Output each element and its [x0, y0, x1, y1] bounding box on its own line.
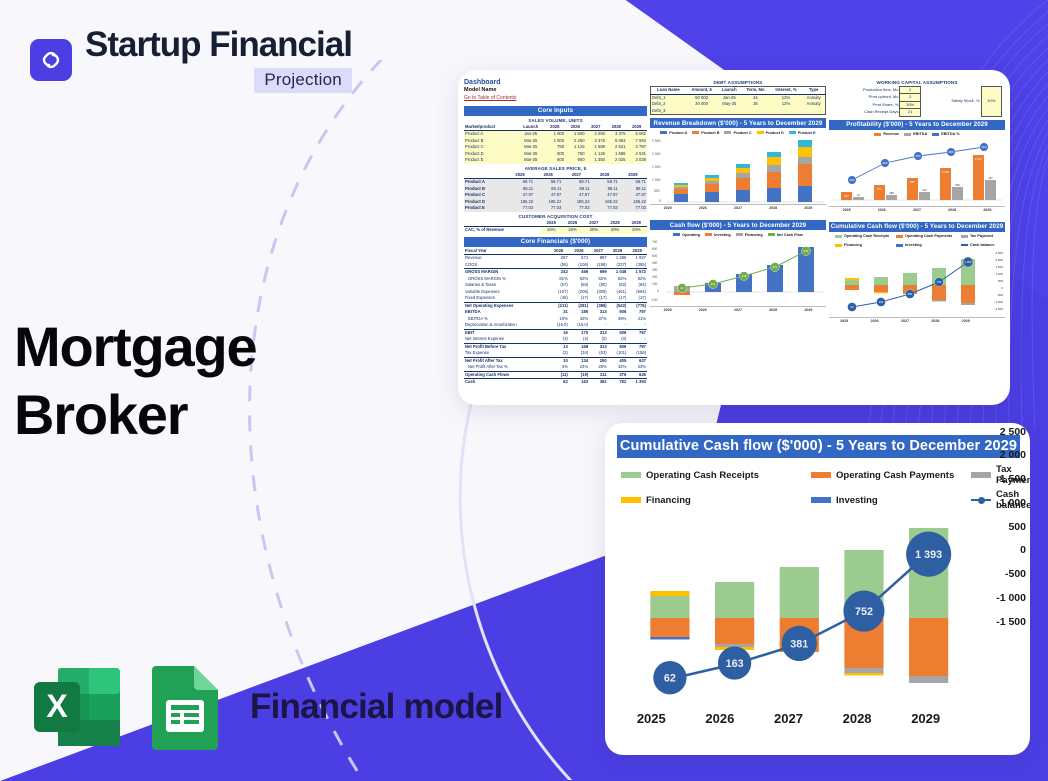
- safety-stock-table: Safety Stock, %10%: [924, 86, 1002, 117]
- cell-value: 20%: [626, 227, 647, 234]
- cell-label: Fixed Expenses: [464, 295, 548, 302]
- cell-value: 134: [569, 357, 589, 364]
- cell-value: 10: [548, 357, 568, 364]
- cell-value: 797: [627, 343, 647, 350]
- cell-value: 3 375: [606, 131, 626, 138]
- cumulative-cash-flow-chart-large: Cumulative Cash flow ($'000) - 5 Years t…: [605, 423, 1030, 755]
- col-year-0: 2025: [541, 220, 562, 227]
- cell-term: [741, 108, 770, 115]
- cell-value: (542): [608, 302, 628, 309]
- cell-label: Tax Expense: [464, 350, 548, 357]
- cell-value: -: [608, 322, 628, 329]
- footer-row: X Financial model: [30, 664, 503, 750]
- svg-text:571: 571: [877, 187, 882, 191]
- sales-volume-table: Market/product Launch 2025 2026 2027 202…: [464, 124, 647, 164]
- y-tick: -500: [1005, 568, 1026, 580]
- cell-value: (17): [627, 295, 647, 302]
- table-row: Production time, Mo2: [829, 87, 921, 94]
- chart-plot-area: 700600500 400300200 1000-100: [650, 238, 826, 306]
- y-tick: 2 000: [1000, 449, 1026, 461]
- svg-text:2 500: 2 500: [652, 139, 661, 143]
- x-label: 2028: [931, 319, 939, 323]
- cell-value: 1 350: [586, 157, 606, 164]
- table-header-row: Market/product Launch 2025 2026 2027 202…: [464, 124, 647, 131]
- cell-label: Cash Receipt Days: [829, 109, 900, 116]
- legend-label: Product B: [701, 131, 719, 135]
- cell-value: 62: [548, 379, 568, 386]
- table-row: Net Profit After Tax %3%24%28%32%33%: [464, 364, 647, 371]
- cell-value: 3%: [548, 364, 568, 371]
- y-tick: -1 500: [996, 616, 1026, 628]
- svg-text:313: 313: [922, 188, 927, 192]
- svg-text:1 393: 1 393: [915, 549, 942, 561]
- brand-text-block: Startup Financial Projection: [85, 27, 352, 93]
- chart-legend: Operating Cash Receipts Operating Cash P…: [621, 464, 1020, 511]
- chart-x-labels: 2025 2026 2027 2028 2029: [650, 306, 826, 312]
- svg-text:32%: 32%: [882, 161, 888, 165]
- x-label: 2028: [823, 711, 892, 726]
- dashboard-left-column: Dashboard Model Name Go to Table of Cont…: [464, 78, 647, 401]
- cell-value: 77.03: [506, 205, 534, 212]
- dashboard-title: Dashboard: [464, 78, 647, 87]
- revenue-breakdown-chart: Product A Product B Product C Product D …: [650, 129, 826, 217]
- legend-label: Financing: [745, 233, 763, 237]
- chart-plot-area: 2 5002 0001 500 1 0005000 -500-1 000-1 5…: [829, 249, 1005, 317]
- cell-value: 506: [608, 343, 628, 350]
- x-label: 2027: [913, 208, 921, 212]
- cell-label: Prmt upfront, Mo: [829, 94, 900, 101]
- profitability-title: Profitability ($'000) - 5 Years to Decem…: [829, 120, 1005, 130]
- y-tick: 1 500: [1000, 473, 1026, 485]
- svg-text:1 500: 1 500: [652, 165, 661, 169]
- cell-label: Operating Cash Flows: [464, 371, 548, 379]
- cell-launch: Jan-25: [717, 94, 741, 101]
- col-year-0: 2025: [545, 124, 565, 131]
- col-year-1: 2026: [565, 124, 585, 131]
- cell-value: 3 038: [626, 157, 647, 164]
- x-label: 2027: [901, 319, 909, 323]
- x-label: 2025: [840, 319, 848, 323]
- col-year-3: 2028: [606, 124, 626, 131]
- legend-label: Tax Payment: [970, 234, 993, 238]
- svg-text:0: 0: [657, 289, 659, 293]
- cell-value: 33%: [627, 364, 647, 371]
- y-tick: 0: [1020, 544, 1026, 556]
- cell-value: 571: [569, 255, 589, 262]
- cell-label: Prmt Share, %: [829, 101, 900, 108]
- debt-assumptions-caption: DEBT ASSUMPTIONS: [650, 80, 826, 85]
- svg-text:41%: 41%: [981, 145, 987, 149]
- table-row: Prmt upfront, Mo2: [829, 94, 921, 101]
- legend-label: Product A: [669, 131, 687, 135]
- col-year-4: 2029: [627, 248, 647, 255]
- svg-text:X: X: [46, 688, 68, 724]
- cell-value: 405: [608, 357, 628, 364]
- col-year-0: 2025: [506, 172, 534, 179]
- cell-value: (17): [589, 295, 608, 302]
- svg-text:752: 752: [937, 280, 942, 284]
- table-row: Net Profit After Tax10134250405637: [464, 357, 647, 364]
- cell-value: 297: [548, 255, 568, 262]
- dashboard-preview-card[interactable]: Dashboard Model Name Go to Table of Cont…: [458, 70, 1010, 405]
- cell-loan-name: Debt_3: [651, 108, 686, 115]
- table-row: Product AJan-251 0001 5002 2503 3755 062: [464, 131, 647, 138]
- working-capital-caption: WORKING CAPITAL ASSUMPTIONS: [829, 80, 1005, 85]
- cell-value: 752: [608, 379, 628, 386]
- dashboard-middle-column: DEBT ASSUMPTIONS Loan Name Amount, $ Lau…: [650, 78, 826, 401]
- legend-label: Operating: [682, 233, 700, 237]
- cell-value: -: [627, 336, 647, 343]
- cell-value: 2 025: [606, 157, 626, 164]
- cell-product: Product A: [464, 131, 517, 138]
- svg-text:506: 506: [955, 183, 960, 187]
- brand-subtitle: Projection: [254, 68, 352, 93]
- cell-value: 58.71: [591, 179, 619, 186]
- table-row: Tax Expense(3)(34)(63)(101)(159): [464, 350, 647, 357]
- chart-y-axis: 2 500 2 000 1 500 1 000 500 0 -500 -1 00…: [972, 423, 1030, 639]
- x-label: 2028: [769, 308, 777, 312]
- col-launch: Launch: [717, 87, 741, 95]
- cell-launch: Mar-25: [517, 157, 545, 164]
- svg-text:752: 752: [855, 606, 873, 618]
- cumulative-cash-flow-title: Cumulative Cash flow ($'000) - 5 Years t…: [829, 222, 1005, 232]
- cell-value: 77.03: [562, 205, 590, 212]
- core-financials-band: Core Financials ($'000): [464, 237, 647, 247]
- chart-legend: Operating Cash Receipts Operating Cash P…: [829, 233, 1005, 249]
- table-header-row: 2025 2026 2027 2028 2029: [464, 172, 647, 179]
- dashboard-right-column: WORKING CAPITAL ASSUMPTIONS Production t…: [829, 78, 1005, 401]
- cell-type: Annuity: [802, 94, 825, 101]
- cell-value: 466: [569, 269, 589, 276]
- legend-item: Financing: [736, 233, 763, 237]
- cell-value: (17): [608, 295, 628, 302]
- x-label: 2028: [948, 208, 956, 212]
- legend-label: EBITDA %: [941, 132, 959, 136]
- cell-value: 163: [569, 379, 589, 386]
- svg-text:1 927: 1 927: [975, 157, 982, 161]
- microsoft-excel-icon: X: [30, 664, 124, 750]
- legend-item: Product C: [724, 131, 751, 135]
- cell-value: (3): [548, 350, 568, 357]
- cell-value: 20%: [583, 227, 604, 234]
- cell-value: 168: [569, 343, 589, 350]
- cell-value: 313: [589, 343, 608, 350]
- cell-value: 797: [627, 329, 647, 336]
- x-label: 2027: [734, 206, 742, 210]
- cell-loan-name: Debt_1: [651, 94, 686, 101]
- svg-text:500: 500: [998, 279, 1003, 283]
- cell-value: (0): [608, 336, 628, 343]
- table-row: Cash621633817521 393: [464, 379, 647, 386]
- svg-text:381: 381: [908, 292, 913, 296]
- col-loan-name: Loan Name: [651, 87, 686, 95]
- cell-value: (0): [589, 336, 608, 343]
- x-label: 2029: [804, 308, 812, 312]
- col-fiscal-year: Fiscal Year: [464, 248, 548, 255]
- col-year-4: 2029: [626, 124, 647, 131]
- chart-plot-area: 2 5002 0001 500 1 0005000: [650, 136, 826, 204]
- table-row: Prmt Share, %30%: [829, 101, 921, 108]
- x-label: 2029: [804, 206, 812, 210]
- svg-text:2 000: 2 000: [995, 258, 1003, 262]
- chart-plot-area: 10%32%37% 39%41% 297571897 1 2851 927 31…: [829, 138, 1005, 206]
- avg-price-table: 2025 2026 2027 2028 2029 Product A58.715…: [464, 172, 647, 212]
- legend-label: Investing: [836, 495, 878, 506]
- cell-value: 5 062: [626, 131, 647, 138]
- cell-value: (19): [569, 371, 589, 379]
- legend-item: Operating Cash Payments: [811, 464, 971, 486]
- debt-assumptions-table: Loan Name Amount, $ Launch Term, Mo Inte…: [650, 86, 826, 115]
- table-row: Depreciation & Amortization(15.0)(15.0)-…: [464, 322, 647, 329]
- cell-value: 30%: [900, 101, 921, 108]
- legend-label: Cash balance: [970, 243, 994, 247]
- cell-value: 58.71: [506, 179, 534, 186]
- cell-value: 77.03: [591, 205, 619, 212]
- cumulative-cash-flow-chart: Operating Cash Receipts Operating Cash P…: [829, 233, 1005, 321]
- cash-flow-title: Cash flow ($'000) - 5 Years to December …: [650, 220, 826, 230]
- y-tick: 500: [1008, 521, 1026, 533]
- cell-launch: [717, 108, 741, 115]
- cell-value: (101): [608, 350, 628, 357]
- svg-text:1 500: 1 500: [995, 265, 1003, 269]
- avg-price-caption: AVERAGE SALES PRICE, $: [464, 166, 647, 171]
- legend-item: Operating: [673, 233, 700, 237]
- cell-interest: [770, 108, 803, 115]
- cell-value: -: [627, 322, 647, 329]
- cell-value: 645: [627, 371, 647, 379]
- cell-value: 250: [589, 357, 608, 364]
- svg-text:101: 101: [711, 282, 716, 286]
- table-header-row: Loan Name Amount, $ Launch Term, Mo Inte…: [651, 87, 826, 95]
- dashboard-model-name: Model Name: [464, 87, 647, 95]
- svg-text:1 285: 1 285: [942, 170, 949, 174]
- col-year-3: 2028: [591, 172, 619, 179]
- cell-label: Revenue: [464, 255, 548, 262]
- cell-value: 637: [627, 357, 647, 364]
- svg-text:500: 500: [654, 189, 660, 193]
- cell-value: (48): [548, 295, 568, 302]
- cell-value: 77.03: [534, 205, 562, 212]
- cell-value: 16: [548, 329, 568, 336]
- cell-product: Product A: [464, 179, 506, 186]
- footer-label: Financial model: [250, 687, 503, 727]
- legend-label: Operating Cash Payments: [905, 234, 952, 238]
- cell-type: [802, 108, 825, 115]
- legend-label: Net Cash Flow: [777, 233, 803, 237]
- col-year-4: 2029: [619, 172, 647, 179]
- legend-item: Financing: [621, 489, 811, 511]
- table-row: Revenue2975718971 2851 927: [464, 255, 647, 262]
- svg-text:10%: 10%: [849, 178, 855, 182]
- x-label: 2029: [983, 208, 991, 212]
- sales-volume-caption: SALES VOLUME, UNITS: [464, 118, 647, 123]
- col-year-1: 2026: [562, 220, 583, 227]
- cell-value: (15.0): [548, 322, 568, 329]
- cell-value: 77.03: [619, 205, 647, 212]
- svg-text:200: 200: [652, 275, 658, 279]
- chart-legend: Revenue EBITDA EBITDA %: [829, 131, 1005, 138]
- svg-text:31: 31: [857, 193, 860, 197]
- table-row: Cash Receipt Days21: [829, 109, 921, 116]
- page-title-line-2: Broker: [14, 381, 256, 449]
- svg-text:381: 381: [790, 638, 808, 650]
- x-label: 2026: [686, 711, 755, 726]
- cell-value: 2 250: [586, 131, 606, 138]
- cell-amount: [686, 108, 718, 115]
- table-row: COGS(55)(106)(198)(237)(355): [464, 262, 647, 269]
- col-year-3: 2028: [604, 220, 625, 227]
- cell-value: 506: [608, 329, 628, 336]
- col-year-2: 2027: [562, 172, 590, 179]
- legend-label: EBITDA: [913, 132, 927, 136]
- col-term: Term, Mo: [741, 87, 770, 95]
- legend-item: Operating Cash Payments: [896, 234, 956, 238]
- cell-value: 313: [589, 329, 608, 336]
- legend-label: Revenue: [883, 132, 899, 136]
- legend-label: Investing: [905, 243, 922, 247]
- chart-x-labels: 2025 2026 2027 2028 2029: [829, 206, 1005, 212]
- svg-text:0: 0: [1001, 286, 1003, 290]
- cell-value: 1 927: [627, 255, 647, 262]
- legend-label: Financing: [844, 243, 862, 247]
- svg-text:371: 371: [773, 265, 778, 269]
- cell-label: CAC, % of Revenue: [464, 227, 541, 234]
- chart-x-labels: 2025 2026 2027 2028 2029: [650, 204, 826, 210]
- cell-value: 1 393: [627, 379, 647, 386]
- legend-item: Cash balance: [961, 243, 994, 247]
- x-label: 2026: [871, 319, 879, 323]
- col-year-2: 2027: [583, 220, 604, 227]
- revenue-breakdown-title: Revenue Breakdown ($'000) - 5 Years to D…: [650, 118, 826, 128]
- cell-value: (11): [548, 371, 568, 379]
- svg-text:185: 185: [889, 191, 894, 195]
- legend-item: Investing: [811, 489, 971, 511]
- legend-item: Product A: [660, 131, 687, 135]
- cell-label: Depreciation & Amortization: [464, 322, 548, 329]
- profitability-chart: Revenue EBITDA EBITDA %: [829, 131, 1005, 219]
- cell-value: (106): [569, 262, 589, 269]
- cell-value: 1 572: [627, 269, 647, 276]
- table-row: Debt_150 000Jan-252412%Annuity: [651, 94, 826, 101]
- cell-value: 20%: [604, 227, 625, 234]
- chart-plot-area: 62163 381752 1 393: [617, 519, 960, 709]
- col-launch: Launch: [517, 124, 545, 131]
- cell-value: (2): [569, 336, 589, 343]
- cell-value: (355): [627, 262, 647, 269]
- svg-text:62: 62: [664, 673, 676, 685]
- cumulative-cash-flow-card[interactable]: Cumulative Cash flow ($'000) - 5 Years t…: [605, 423, 1030, 755]
- cell-value: (775): [627, 302, 647, 309]
- cell-value: (211): [548, 302, 568, 309]
- cell-value: 1 048: [608, 269, 628, 276]
- cell-value: 58.71: [562, 179, 590, 186]
- col-type: Type: [802, 87, 825, 95]
- cell-value: 1 500: [565, 131, 585, 138]
- cell-product: Product E: [464, 157, 517, 164]
- chart-x-labels: 2025 2026 2027 2028 2029: [829, 317, 1005, 323]
- cac-caption: CUSTOMER ACQUISITION COST: [464, 214, 647, 219]
- cell-value: 28%: [589, 364, 608, 371]
- cell-value: (63): [589, 350, 608, 357]
- cell-value: 58.71: [619, 179, 647, 186]
- svg-text:600: 600: [652, 247, 658, 251]
- legend-item: Operating Cash Receipts: [621, 464, 811, 486]
- brand-logo-row: Startup Financial Projection: [30, 27, 352, 93]
- x-label: 2025: [664, 206, 672, 210]
- col-amount: Amount, $: [686, 87, 718, 95]
- svg-text:300: 300: [652, 268, 658, 272]
- cell-term: 24: [741, 94, 770, 101]
- x-label: 2025: [617, 711, 686, 726]
- legend-label: Financing: [646, 495, 691, 506]
- cell-value: 699: [589, 269, 608, 276]
- svg-text:-1 500: -1 500: [994, 307, 1003, 311]
- legend-item: Investing: [896, 243, 956, 247]
- svg-text:0: 0: [659, 199, 661, 203]
- cash-flow-chart: Operating Investing Financing Net Cash F…: [650, 231, 826, 319]
- col-year-3: 2028: [608, 248, 628, 255]
- dashboard-toc-link[interactable]: Go to Table of Contents: [464, 95, 647, 103]
- working-capital-table: Production time, Mo2 Prmt upfront, Mo2 P…: [829, 86, 921, 117]
- svg-text:-1 000: -1 000: [994, 300, 1003, 304]
- cell-label: Net Profit After Tax %: [464, 364, 548, 371]
- x-label: 2026: [699, 206, 707, 210]
- svg-text:163: 163: [726, 658, 744, 670]
- data-point-labels: 62163 381752 1 393: [664, 549, 942, 684]
- cell-value: 10%: [981, 87, 1001, 117]
- cell-label: Net Profit Before Tax: [464, 343, 548, 350]
- cell-value: (34): [569, 350, 589, 357]
- y-tick: 2 500: [1000, 426, 1026, 438]
- legend-label: Product D: [766, 131, 784, 135]
- legend-label: Investing: [714, 233, 731, 237]
- table-header-row: 2025 2026 2027 2028 2029: [464, 220, 647, 227]
- svg-text:2 000: 2 000: [652, 152, 661, 156]
- core-financials-table: Fiscal Year 2025 2026 2027 2028 2029 Rev…: [464, 248, 647, 386]
- cell-value: (281): [569, 302, 589, 309]
- col-year-1: 2026: [569, 248, 589, 255]
- table-row: Net Interest Expense(3)(2)(0)(0)-: [464, 336, 647, 343]
- cell-value: (198): [589, 262, 608, 269]
- x-label: 2028: [769, 206, 777, 210]
- legend-item: Revenue: [874, 132, 899, 136]
- table-row: Net Operating Expenses(211)(281)(386)(54…: [464, 302, 647, 309]
- cell-value: 58.71: [534, 179, 562, 186]
- cell-value: (159): [627, 350, 647, 357]
- table-row: Safety Stock, %10%: [924, 87, 1002, 117]
- table-row: Product EMar-256009001 3502 0253 038: [464, 157, 647, 164]
- cell-value: 21: [900, 109, 921, 116]
- table-header-row: Fiscal Year 2025 2026 2027 2028 2029: [464, 248, 647, 255]
- table-row: Debt_3: [651, 108, 826, 115]
- svg-text:1 393: 1 393: [965, 260, 972, 264]
- col-year-2: 2027: [586, 124, 606, 131]
- cell-value: 242: [548, 269, 568, 276]
- legend-label: Operating Cash Receipts: [646, 470, 759, 481]
- cell-interest: 12%: [770, 94, 803, 101]
- dashboard-sheet: Dashboard Model Name Go to Table of Cont…: [458, 70, 1010, 405]
- table-row: CAC, % of Revenue 20% 20% 20% 20% 20%: [464, 227, 647, 234]
- cell-value: (386): [589, 302, 608, 309]
- page-title: Mortgage Broker: [14, 313, 256, 450]
- cell-value: 1 000: [545, 131, 565, 138]
- cell-label: Net Operating Expenses: [464, 302, 548, 309]
- legend-item: Investing: [705, 233, 731, 237]
- cell-value: 24%: [569, 364, 589, 371]
- table-row: Operating Cash Flows(11)(19)211376645: [464, 371, 647, 379]
- svg-text:218: 218: [742, 274, 747, 278]
- x-label: 2027: [754, 711, 823, 726]
